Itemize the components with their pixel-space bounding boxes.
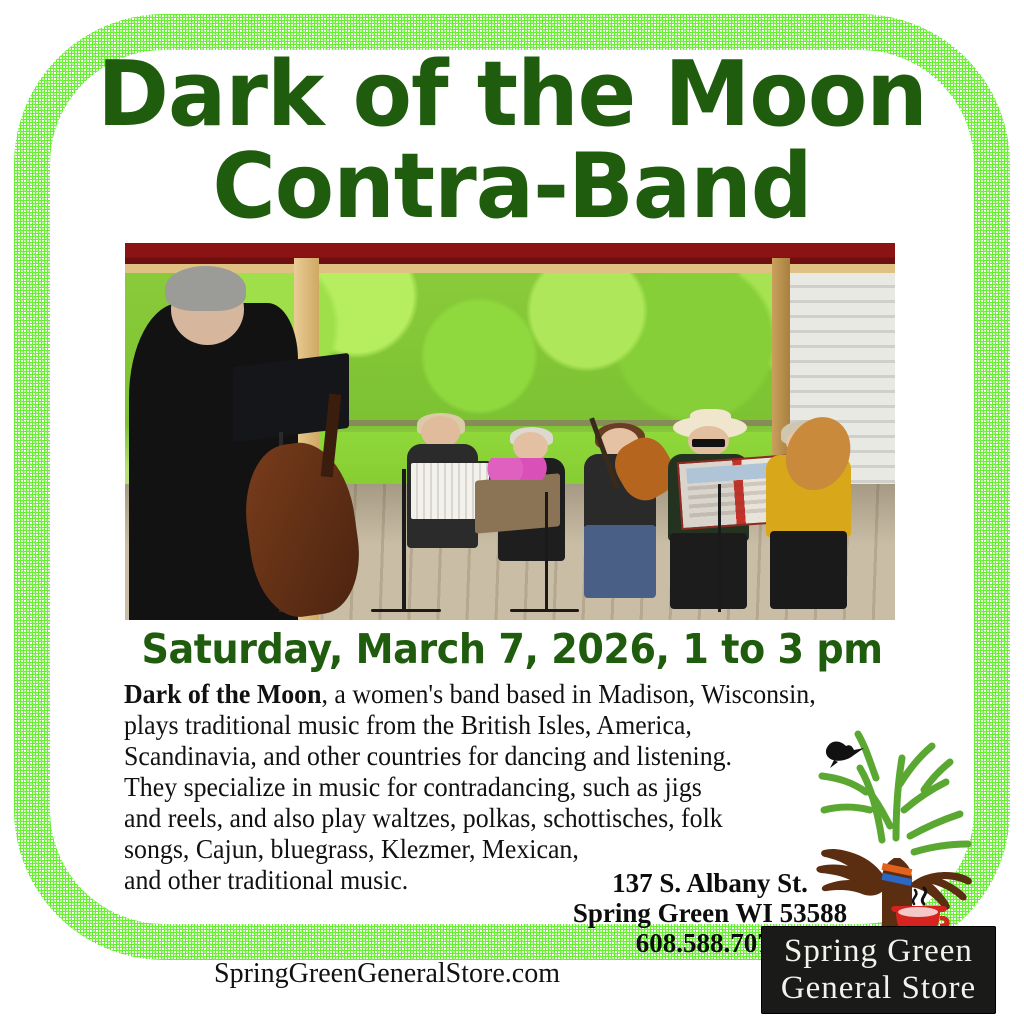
band-photo [125, 243, 895, 620]
photo-mic-stand-2 [402, 469, 405, 612]
description-line-0: Dark of the Moon, a women's band based i… [124, 678, 801, 709]
photo-flowers [487, 458, 549, 481]
photo-musician-sunglasses [692, 439, 725, 447]
bird-icon [826, 742, 864, 769]
photo-mic-stand-1 [545, 492, 548, 613]
photo-mic-base-2 [371, 609, 440, 612]
poster-canvas: Dark of the Moon Contra-Band [0, 0, 1024, 1024]
photo-musician-third-head [513, 432, 548, 462]
description-line-3: They specialize in music for contradanci… [124, 771, 801, 802]
headline-line-1: Dark of the Moon [20, 52, 1003, 138]
photo-mic-stand-3 [718, 484, 721, 612]
event-description: Dark of the Moon, a women's band based i… [124, 678, 801, 895]
photo-musician-hat-legs [670, 533, 748, 608]
photo-musician-leader-hair [165, 266, 246, 311]
store-website-link[interactable]: SpringGreenGeneralStore.com [0, 958, 1024, 990]
description-line-2: Scandinavia, and other countries for dan… [124, 740, 801, 771]
band-photo-illustration [125, 243, 895, 620]
event-date-time: Saturday, March 7, 2026, 1 to 3 pm [36, 625, 988, 673]
photo-musician-fiddle-legs [584, 525, 655, 598]
photo-mic-base-1 [510, 609, 579, 612]
description-line-5: songs, Cajun, bluegrass, Klezmer, Mexica… [124, 833, 801, 864]
address-line-2: Spring Green WI 53588 [560, 898, 860, 928]
description-line-1: plays traditional music from the British… [124, 709, 801, 740]
description-text-0: , a women's band based in Madison, Wisco… [321, 678, 815, 709]
headline-line-2: Contra-Band [20, 144, 1003, 230]
description-line-4: and reels, and also play waltzes, polkas… [124, 802, 801, 833]
band-name-bold: Dark of the Moon [124, 678, 321, 709]
address-line-1: 137 S. Albany St. [560, 868, 860, 898]
page-title: Dark of the Moon Contra-Band [20, 52, 1003, 229]
photo-musician-accordion-head [421, 416, 460, 447]
photo-musician-guitar-legs [770, 531, 848, 609]
